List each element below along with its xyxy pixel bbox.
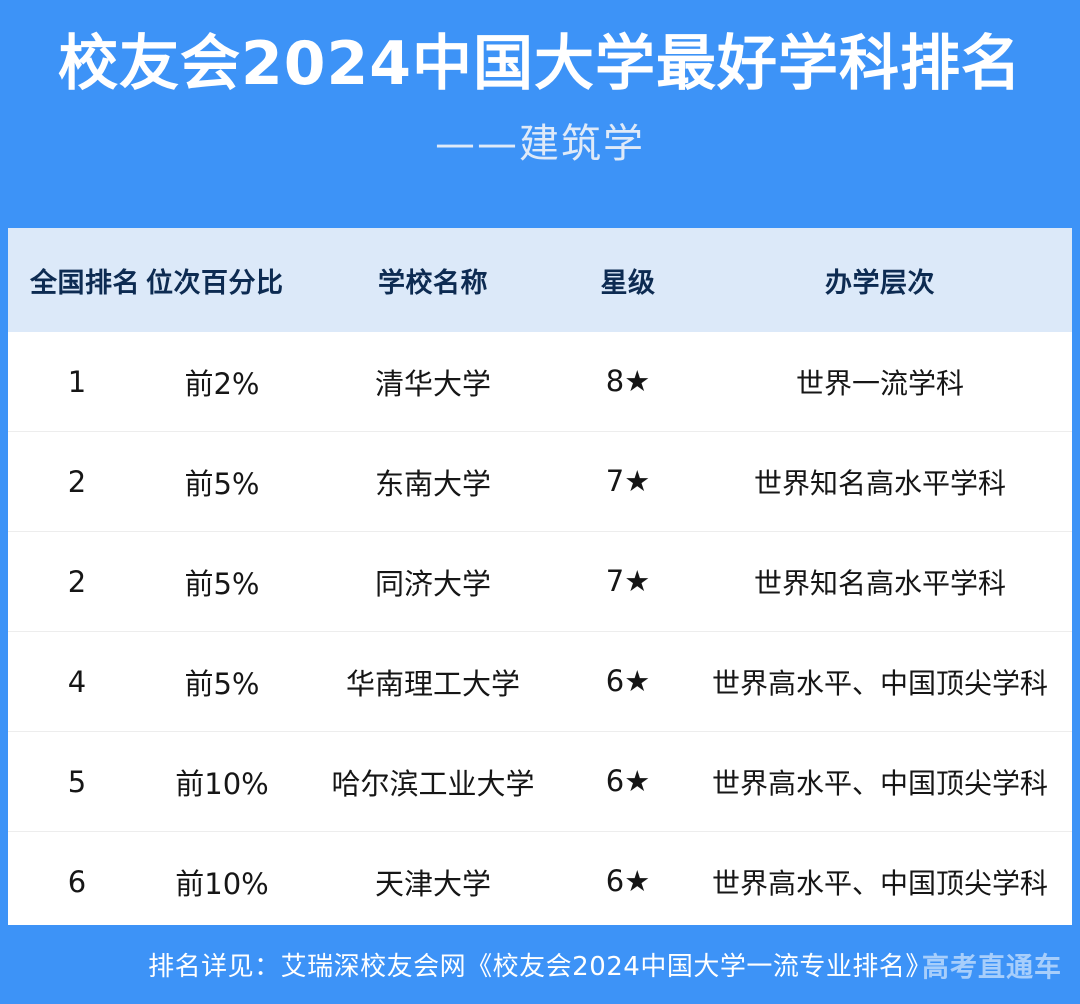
column-header-rank: 全国排名 xyxy=(8,228,146,332)
cell-rank: 2 xyxy=(8,432,146,532)
cell-school: 东南大学 xyxy=(298,432,568,532)
cell-percentile: 前2% xyxy=(146,332,298,432)
cell-star: 6★ xyxy=(568,732,688,832)
table-row: 4 前5% 华南理工大学 6★ 世界高水平、中国顶尖学科 xyxy=(8,632,1072,732)
cell-rank: 6 xyxy=(8,832,146,926)
footer-source-note: 排名详见：艾瑞深校友会网《校友会2024中国大学一流专业排名》 xyxy=(148,946,932,983)
cell-rank: 2 xyxy=(8,532,146,632)
cell-percentile: 前10% xyxy=(146,832,298,926)
cell-school: 天津大学 xyxy=(298,832,568,926)
cell-school: 同济大学 xyxy=(298,532,568,632)
cell-level: 世界高水平、中国顶尖学科 xyxy=(688,632,1072,732)
cell-level: 世界知名高水平学科 xyxy=(688,532,1072,632)
cell-school: 清华大学 xyxy=(298,332,568,432)
watermark-label: 高考直通车 xyxy=(922,945,1062,984)
cell-level: 世界一流学科 xyxy=(688,332,1072,432)
cell-percentile: 前5% xyxy=(146,432,298,532)
cell-level: 世界高水平、中国顶尖学科 xyxy=(688,832,1072,926)
cell-star: 7★ xyxy=(568,432,688,532)
table-body: 1 前2% 清华大学 8★ 世界一流学科 2 前5% 东南大学 7★ 世界知名高… xyxy=(8,332,1072,925)
table-row: 2 前5% 东南大学 7★ 世界知名高水平学科 xyxy=(8,432,1072,532)
table-row: 6 前10% 天津大学 6★ 世界高水平、中国顶尖学科 xyxy=(8,832,1072,926)
poster-header: 校友会2024中国大学最好学科排名 ——建筑学 xyxy=(0,0,1080,228)
cell-percentile: 前10% xyxy=(146,732,298,832)
ranking-table-card: 全国排名 位次百分比 学校名称 星级 办学层次 1 前2% 清华大学 8★ 世界… xyxy=(8,228,1072,925)
page-title: 校友会2024中国大学最好学科排名 xyxy=(58,34,1022,94)
cell-rank: 4 xyxy=(8,632,146,732)
cell-school: 华南理工大学 xyxy=(298,632,568,732)
cell-rank: 1 xyxy=(8,332,146,432)
ranking-table: 全国排名 位次百分比 学校名称 星级 办学层次 1 前2% 清华大学 8★ 世界… xyxy=(8,228,1072,925)
cell-rank: 5 xyxy=(8,732,146,832)
cell-percentile: 前5% xyxy=(146,632,298,732)
cell-level: 世界知名高水平学科 xyxy=(688,432,1072,532)
cell-star: 8★ xyxy=(568,332,688,432)
cell-percentile: 前5% xyxy=(146,532,298,632)
table-row: 5 前10% 哈尔滨工业大学 6★ 世界高水平、中国顶尖学科 xyxy=(8,732,1072,832)
cell-school: 哈尔滨工业大学 xyxy=(298,732,568,832)
cell-star: 6★ xyxy=(568,832,688,926)
cell-star: 7★ xyxy=(568,532,688,632)
cell-star: 6★ xyxy=(568,632,688,732)
ranking-poster: 校友会2024中国大学最好学科排名 ——建筑学 全国排名 位次百分比 学校名称 … xyxy=(0,0,1080,1004)
table-head: 全国排名 位次百分比 学校名称 星级 办学层次 xyxy=(8,228,1072,332)
page-subtitle: ——建筑学 xyxy=(435,124,645,164)
column-header-star: 星级 xyxy=(568,228,688,332)
column-header-percentile: 位次百分比 xyxy=(146,228,298,332)
column-header-level: 办学层次 xyxy=(688,228,1072,332)
poster-footer: 排名详见：艾瑞深校友会网《校友会2024中国大学一流专业排名》 高考直通车 xyxy=(0,925,1080,1004)
cell-level: 世界高水平、中国顶尖学科 xyxy=(688,732,1072,832)
column-header-school: 学校名称 xyxy=(298,228,568,332)
table-row: 1 前2% 清华大学 8★ 世界一流学科 xyxy=(8,332,1072,432)
table-row: 2 前5% 同济大学 7★ 世界知名高水平学科 xyxy=(8,532,1072,632)
table-header-row: 全国排名 位次百分比 学校名称 星级 办学层次 xyxy=(8,228,1072,332)
